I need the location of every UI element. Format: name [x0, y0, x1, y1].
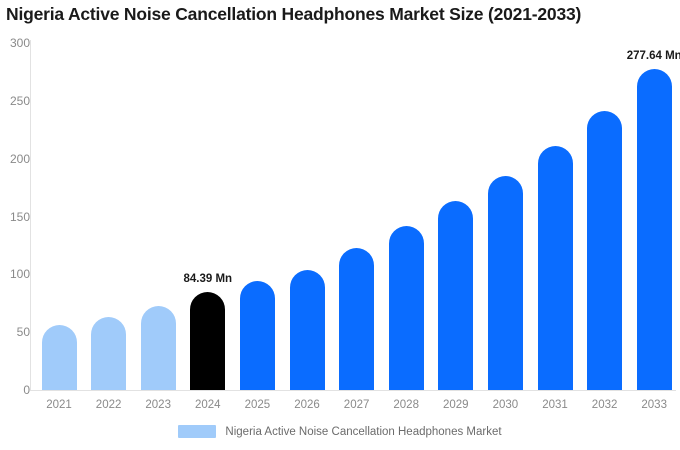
x-axis-tick-label: 2028 [393, 399, 419, 411]
x-axis-tick-label: 2029 [443, 399, 469, 411]
bar[interactable] [587, 111, 622, 390]
x-axis-tick-label: 2033 [641, 399, 667, 411]
x-axis-tick-label: 2025 [245, 399, 271, 411]
y-axis-tick-label: 200 [0, 152, 30, 166]
x-axis-tick-label: 2032 [592, 399, 618, 411]
bar[interactable] [290, 270, 325, 390]
y-axis-line [30, 40, 31, 390]
bar-value-label: 277.64 Mn [627, 50, 680, 62]
bar[interactable] [637, 69, 672, 390]
legend-swatch [178, 425, 216, 438]
bar-value-label: 84.39 Mn [184, 273, 233, 285]
x-axis-tick-label: 2021 [46, 399, 72, 411]
y-axis-tick-label: 100 [0, 267, 30, 281]
y-axis-tick-label: 300 [0, 36, 30, 50]
x-axis-tick-label: 2026 [294, 399, 320, 411]
chart-legend: Nigeria Active Noise Cancellation Headph… [0, 425, 680, 438]
bar[interactable] [438, 201, 473, 390]
x-axis-line [30, 390, 676, 391]
x-axis-tick-label: 2027 [344, 399, 370, 411]
x-axis-tick-label: 2022 [96, 399, 122, 411]
y-axis-tick-label: 150 [0, 210, 30, 224]
x-axis-tick-label: 2024 [195, 399, 221, 411]
bar[interactable] [190, 292, 225, 390]
bar[interactable] [488, 176, 523, 390]
legend-label: Nigeria Active Noise Cancellation Headph… [225, 426, 501, 438]
bar[interactable] [538, 146, 573, 390]
bar[interactable] [389, 226, 424, 390]
x-axis-tick-label: 2031 [542, 399, 568, 411]
bar[interactable] [91, 317, 126, 390]
y-axis-tick-label: 250 [0, 94, 30, 108]
bar[interactable] [141, 306, 176, 390]
bar[interactable] [42, 325, 77, 390]
x-axis-tick-label: 2030 [493, 399, 519, 411]
plot-area: 050100150200250300 84.39 Mn277.64 Mn 202… [0, 0, 680, 450]
y-axis-tick-label: 0 [0, 383, 30, 397]
chart-container: Nigeria Active Noise Cancellation Headph… [0, 0, 680, 450]
bar[interactable] [240, 281, 275, 390]
y-axis-tick-label: 50 [0, 325, 30, 339]
x-axis-tick-label: 2023 [145, 399, 171, 411]
bar[interactable] [339, 248, 374, 390]
